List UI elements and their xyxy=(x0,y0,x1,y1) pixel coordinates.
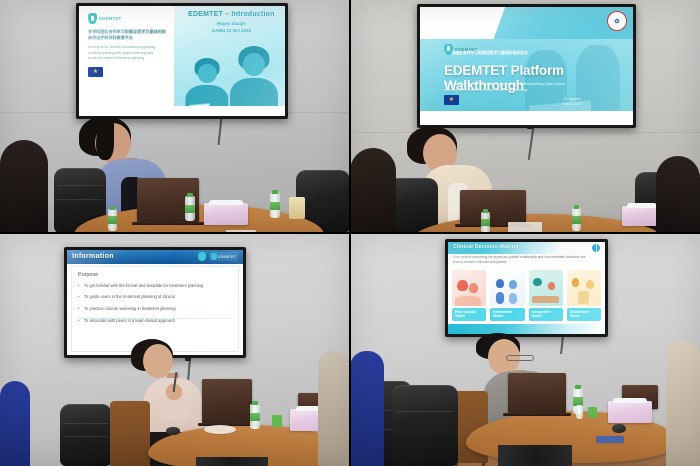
illustration-paternalistic xyxy=(452,270,486,306)
water-bottle xyxy=(250,404,260,429)
figure-blob xyxy=(457,280,467,292)
edemtet-badge: EDEMTET xyxy=(209,252,238,261)
laptop-lid xyxy=(202,379,252,423)
small-item xyxy=(272,415,282,427)
model-card: Deliberative Model xyxy=(567,270,601,322)
chair-back xyxy=(60,404,112,466)
globe-icon xyxy=(592,244,600,252)
slide-presenter: Dr. Nguyen Oct 21, 2025 xyxy=(562,97,581,108)
table-base xyxy=(196,457,268,466)
figure-head xyxy=(198,64,216,83)
model-label: Informative Model xyxy=(490,308,524,321)
table-base xyxy=(498,445,572,466)
foreground-person-left xyxy=(350,148,396,233)
wall-seam xyxy=(350,132,700,133)
bottle-label xyxy=(572,216,581,224)
logo-label: EDEMTET xyxy=(455,47,477,52)
tv-screen-decision-making: Clinical Decision Making Four models des… xyxy=(445,239,608,337)
slide-title: EDEMTET – Introduction xyxy=(182,11,281,18)
table-label xyxy=(596,436,624,443)
papers xyxy=(508,222,542,232)
bottle-cap xyxy=(574,205,579,209)
water-bottle xyxy=(185,196,195,221)
laptop-lid xyxy=(460,190,526,224)
foreground-person-blue xyxy=(350,351,384,466)
eu-flag-icon xyxy=(88,67,103,77)
slide-platform-walkthrough: ✿ 多学科团队合作学习和循证医学为基础的临床活动 EDEMTET Platfor… xyxy=(420,7,633,125)
foreground-person-right xyxy=(656,156,700,233)
figure-blob xyxy=(509,280,517,289)
model-card-grid: Paternalistic Model Informative Model xyxy=(452,270,601,322)
figure-blob xyxy=(533,278,541,287)
figure-blob xyxy=(572,278,580,287)
slide-photo-illustration xyxy=(174,36,285,116)
illustration-interpretive xyxy=(529,270,563,306)
laptop xyxy=(460,190,526,224)
slide-divider xyxy=(78,318,232,319)
bottle-cap xyxy=(252,401,258,405)
panel-top-right: ✿ 多学科团队合作学习和循证医学为基础的临床活动 EDEMTET Platfor… xyxy=(350,0,700,233)
figure-body xyxy=(496,292,504,304)
photo-collage: EDEMTET 多学科团队合作学习和循证医学为基础的临床作治疗的牙科教育平台 e… xyxy=(0,0,700,466)
water-bottle xyxy=(108,209,117,231)
presenter-date: Oct 21, 2025 xyxy=(562,102,581,107)
figure-body xyxy=(509,293,517,305)
bottle-label xyxy=(270,202,280,211)
bottle-label xyxy=(108,216,117,223)
chair-stitch xyxy=(396,411,454,412)
edemtet-logo: EDEMTET xyxy=(88,13,169,24)
slide-header-bar: Information EDEMTET xyxy=(67,250,243,264)
bottle-cap xyxy=(575,385,581,389)
slide-edemtet-introduction: EDEMTET 多学科团队合作学习和循证医学为基础的临床作治疗的牙科教育平台 e… xyxy=(79,6,285,116)
figure-body xyxy=(578,291,588,304)
office-chair xyxy=(60,404,112,466)
laptop xyxy=(202,379,252,423)
tissue-sheet xyxy=(209,200,242,205)
subtitle-line-1: Huyen Xiaojie xyxy=(182,21,281,28)
figure-blob xyxy=(469,283,478,293)
tissue-box xyxy=(204,203,248,225)
slide-left-column: EDEMTET 多学科团队合作学习和循证医学为基础的临床作治疗的牙科教育平台 e… xyxy=(79,6,174,116)
badge-label: EDEMTET xyxy=(218,255,236,259)
foreground-person-right xyxy=(318,351,350,466)
laptop-base xyxy=(503,413,570,416)
bottle-label xyxy=(250,413,260,422)
laptop-lid xyxy=(508,373,566,413)
slide-subtitle: eCampus for Dental Education supporting … xyxy=(444,81,576,94)
tissue-box xyxy=(608,401,652,423)
figure-blob xyxy=(496,279,504,288)
bottle-cap xyxy=(483,209,488,213)
mouse xyxy=(166,427,180,435)
slide-top-band: ✿ xyxy=(420,7,633,42)
foreground-person-right xyxy=(666,341,700,466)
foreground-person-blue xyxy=(0,381,30,466)
logo-label: EDEMTET xyxy=(99,16,121,21)
tv-screen-intro: EDEMTET 多学科团队合作学习和循证医学为基础的临床作治疗的牙科教育平台 e… xyxy=(76,3,288,119)
water-bottle xyxy=(572,208,581,231)
wooden-chair xyxy=(110,401,150,466)
list-item: To get familiar with the format and temp… xyxy=(78,283,232,289)
university-seal-icon: ✿ xyxy=(607,11,627,31)
eyeglasses xyxy=(506,355,534,361)
bottle-label xyxy=(481,219,490,226)
eu-flag-icon xyxy=(444,95,459,105)
chair-stitch xyxy=(57,185,103,186)
slide-english-text: eCampus for Dental Education supporting … xyxy=(88,45,169,62)
mouse xyxy=(612,424,626,433)
person-hair-side xyxy=(96,120,114,160)
slide-subtitle: Huyen Xiaojie GAMU 21 Oct 2025 xyxy=(182,21,281,34)
tooth-shield-icon xyxy=(211,253,217,260)
model-label: Deliberative Model xyxy=(567,308,601,321)
figure-base xyxy=(455,296,480,306)
slide-bottom-strip xyxy=(174,106,285,116)
model-card: Informative Model xyxy=(490,270,524,322)
panel-bottom-left: Information EDEMTET Purpose To get famil… xyxy=(0,233,350,466)
papers xyxy=(204,425,236,434)
tissue-sheet xyxy=(613,398,646,403)
subtitle-line-2: GAMU 21 Oct 2025 xyxy=(182,28,281,35)
chair-stitch xyxy=(57,199,103,200)
water-bottle xyxy=(481,212,490,233)
panel-bottom-right: Clinical Decision Making Four models des… xyxy=(350,233,700,466)
collage-seam-horizontal xyxy=(0,232,700,234)
figure-blob xyxy=(548,282,556,290)
slide-section-title: Purpose xyxy=(78,272,232,278)
model-card: Paternalistic Model xyxy=(452,270,486,322)
foreground-person-left xyxy=(0,140,48,233)
office-chair-foreground-2 xyxy=(392,385,458,466)
chair-stitch xyxy=(63,436,109,437)
slide-header-title: Information xyxy=(72,253,114,260)
model-label: Paternalistic Model xyxy=(452,308,486,321)
desk xyxy=(532,296,559,302)
chair-back xyxy=(110,401,150,466)
small-item xyxy=(588,407,597,418)
figure-head xyxy=(243,53,265,76)
model-label: Interpretive Model xyxy=(529,308,563,321)
figure-blob xyxy=(586,280,594,289)
slide-chinese-text: 多学科团队合作学习和循证医学为基础的临床作治疗的牙科教育平台 xyxy=(88,29,169,41)
illustration-informative xyxy=(490,270,524,306)
chair-leg xyxy=(482,461,485,466)
model-card: Interpretive Model xyxy=(529,270,563,322)
edemtet-logo: EDEMTET xyxy=(444,44,477,55)
water-bottle-small xyxy=(576,405,583,419)
cup xyxy=(289,197,305,219)
slide-clinical-decision-making: Clinical Decision Making Four models des… xyxy=(448,242,605,334)
bottle-cap xyxy=(110,206,115,210)
tissue-sheet xyxy=(627,203,657,208)
tooth-shield-icon xyxy=(444,44,453,55)
slide-lead-text: Four models describing the physician–pat… xyxy=(453,255,593,265)
slide-right-photo: EDEMTET – Introduction Huyen Xiaojie GAM… xyxy=(174,6,285,116)
list-item: To practice clinical reasoning in treatm… xyxy=(78,306,232,312)
slide-title: Clinical Decision Making xyxy=(453,244,519,250)
laptop xyxy=(508,373,566,413)
slide-header-logos: EDEMTET xyxy=(198,252,238,261)
slide-bottom-band xyxy=(420,111,633,125)
bottle-cap xyxy=(187,193,193,197)
panel-top-left: EDEMTET 多学科团队合作学习和循证医学为基础的临床作治疗的牙科教育平台 e… xyxy=(0,0,350,233)
tv-screen-walkthrough: ✿ 多学科团队合作学习和循证医学为基础的临床活动 EDEMTET Platfor… xyxy=(417,4,636,128)
water-bottle xyxy=(270,193,280,218)
bottle-cap xyxy=(272,190,278,194)
bottle-label xyxy=(185,205,195,214)
illustration-deliberative xyxy=(567,270,601,306)
list-item: To guide users in the treatment planning… xyxy=(78,294,232,300)
laptop-base xyxy=(132,222,204,225)
tooth-icon xyxy=(198,252,206,261)
tooth-shield-icon xyxy=(88,13,97,24)
chair-back xyxy=(392,385,458,466)
chair-stitch xyxy=(63,423,109,424)
